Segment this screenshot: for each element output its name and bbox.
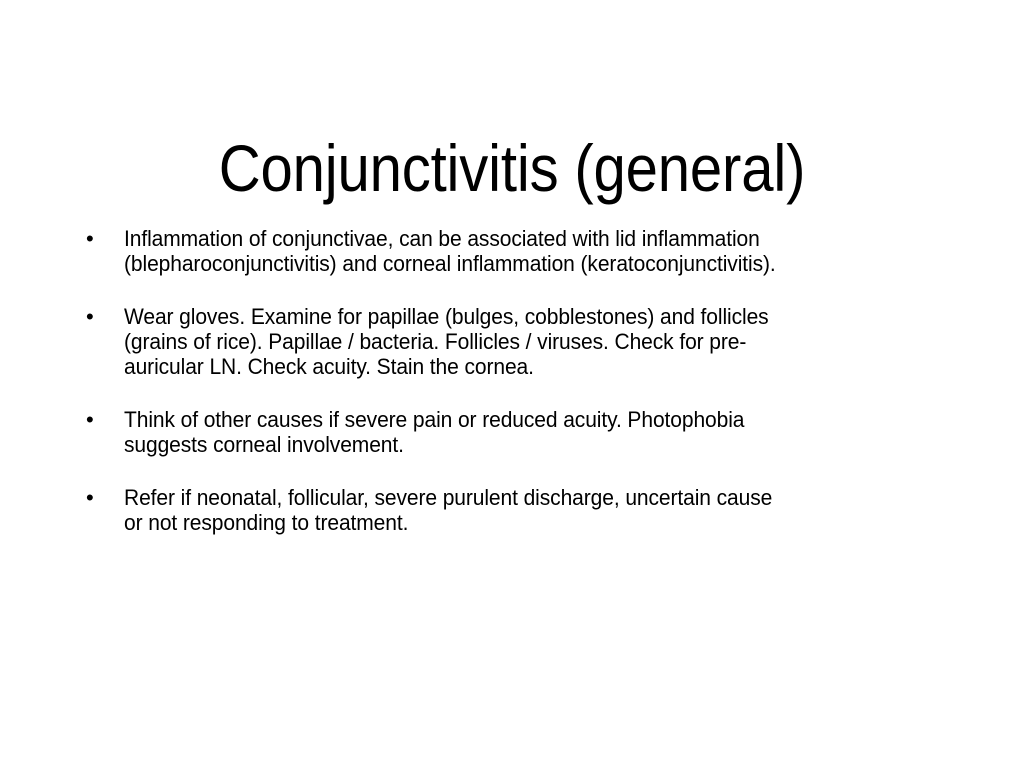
list-item-text: Think of other causes if severe pain or … (124, 407, 913, 457)
list-item-text: Refer if neonatal, follicular, severe pu… (124, 485, 913, 535)
list-item: • Wear gloves. Examine for papillae (bul… (82, 304, 950, 379)
bullet-point-icon: • (86, 226, 100, 251)
page-title: Conjunctivitis (general) (61, 132, 962, 204)
list-item-text: Wear gloves. Examine for papillae (bulge… (124, 304, 913, 379)
bullet-point-icon: • (86, 407, 100, 432)
bullet-point-icon: • (86, 304, 100, 329)
slide-canvas: Conjunctivitis (general) • Inflammation … (0, 0, 1024, 768)
list-item-text: Inflammation of conjunctivae, can be ass… (124, 226, 913, 276)
list-item: • Refer if neonatal, follicular, severe … (82, 485, 950, 535)
bullet-point-icon: • (86, 485, 100, 510)
list-item: • Inflammation of conjunctivae, can be a… (82, 226, 950, 276)
bullet-list: • Inflammation of conjunctivae, can be a… (82, 226, 950, 535)
list-item: • Think of other causes if severe pain o… (82, 407, 950, 457)
